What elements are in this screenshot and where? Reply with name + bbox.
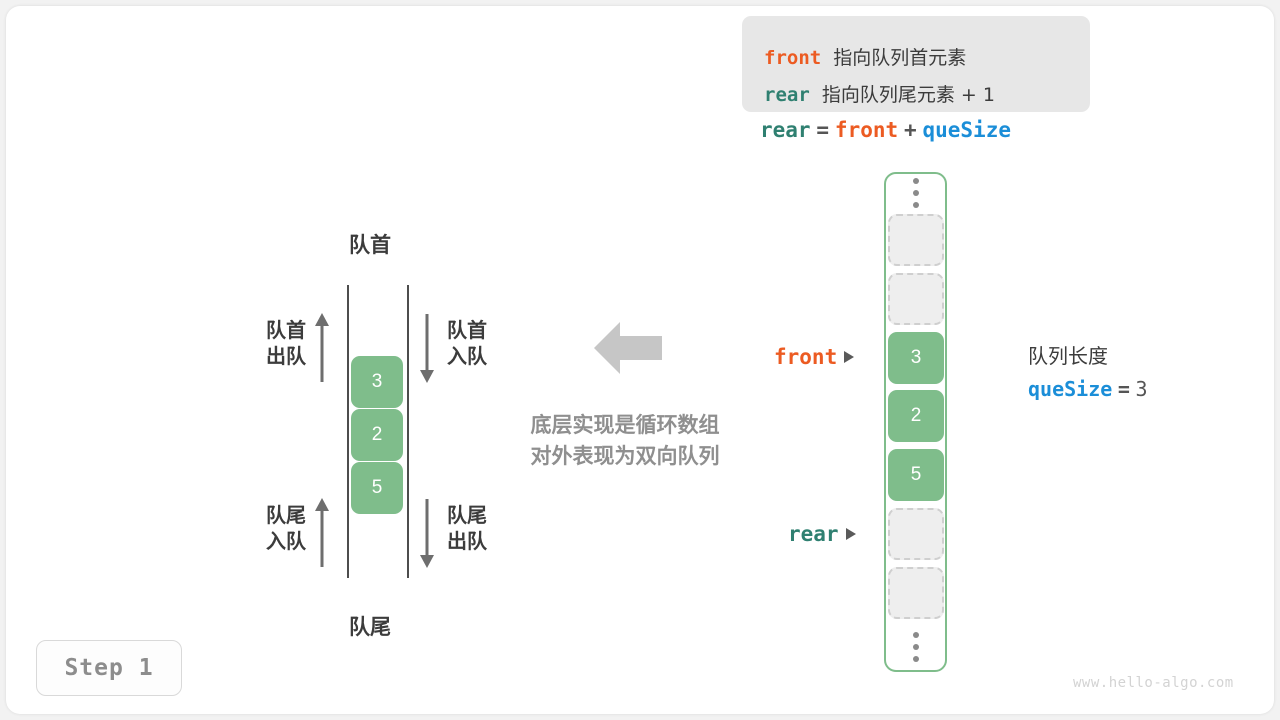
pointer-formula: rear = front + queSize xyxy=(760,120,1011,141)
label-front-dequeue: 队首出队 xyxy=(248,318,306,370)
arrow-down-tail-dequeue-icon xyxy=(415,497,439,569)
diagram-canvas: front 指向队列首元素 rear 指向队列尾元素 + 1 rear = fr… xyxy=(0,0,1280,720)
center-note-line1: 底层实现是循环数组 xyxy=(503,410,747,441)
array-ellipsis-top-icon xyxy=(908,178,924,208)
big-left-arrow-icon xyxy=(592,318,664,378)
legend-rear-line: rear 指向队列尾元素 + 1 xyxy=(764,86,995,105)
pointer-legend-box: front 指向队列首元素 rear 指向队列尾元素 + 1 xyxy=(742,16,1090,112)
quesize-value: 3 xyxy=(1135,377,1147,401)
quesize-var: queSize xyxy=(1028,377,1112,401)
queue-size-expression: queSize = 3 xyxy=(1028,373,1148,407)
array-cell: 2 xyxy=(888,390,944,442)
label-tail-dequeue: 队尾出队 xyxy=(447,503,505,555)
legend-front-line: front 指向队列首元素 xyxy=(764,49,966,68)
deque-rail-left xyxy=(347,285,349,578)
arrow-up-front-dequeue-icon xyxy=(310,312,334,384)
array-cell: 3 xyxy=(888,332,944,384)
array-cell xyxy=(888,273,944,325)
front-pointer-arrow-icon xyxy=(844,351,854,363)
deque-cell: 3 xyxy=(351,356,403,408)
array-cell xyxy=(888,567,944,619)
rear-pointer-label: rear xyxy=(788,524,856,545)
step-badge: Step 1 xyxy=(36,640,182,696)
arrow-down-front-enqueue-icon xyxy=(415,312,439,384)
formula-quesize: queSize xyxy=(922,118,1011,142)
deque-cell: 5 xyxy=(351,462,403,514)
front-pointer-label: front xyxy=(774,347,854,368)
formula-front: front xyxy=(835,118,898,142)
deque-tail-label: 队尾 xyxy=(349,611,391,641)
quesize-equals: = xyxy=(1118,377,1130,401)
deque-cell: 2 xyxy=(351,409,403,461)
formula-equals: = xyxy=(816,118,829,142)
arrow-up-tail-enqueue-icon xyxy=(310,497,334,569)
watermark: www.hello-algo.com xyxy=(1073,675,1234,691)
deque-head-label: 队首 xyxy=(349,229,391,259)
label-front-enqueue: 队首入队 xyxy=(447,318,505,370)
legend-rear-desc: 指向队列尾元素 + 1 xyxy=(822,84,995,106)
center-note: 底层实现是循环数组 对外表现为双向队列 xyxy=(503,410,747,472)
rear-pointer-arrow-icon xyxy=(846,528,856,540)
legend-front-desc: 指向队列首元素 xyxy=(833,47,966,69)
center-note-line2: 对外表现为双向队列 xyxy=(503,441,747,472)
legend-front-token: front xyxy=(764,47,821,69)
deque-rail-right xyxy=(407,285,409,578)
legend-rear-token: rear xyxy=(764,84,810,106)
formula-rear: rear xyxy=(760,118,811,142)
queue-size-title: 队列长度 xyxy=(1028,340,1148,373)
array-cell xyxy=(888,508,944,560)
array-ellipsis-bottom-icon xyxy=(908,632,924,662)
array-cell: 5 xyxy=(888,449,944,501)
array-cell xyxy=(888,214,944,266)
label-tail-enqueue: 队尾入队 xyxy=(248,503,306,555)
formula-plus: + xyxy=(904,118,917,142)
queue-size-note: 队列长度 queSize = 3 xyxy=(1028,340,1148,407)
